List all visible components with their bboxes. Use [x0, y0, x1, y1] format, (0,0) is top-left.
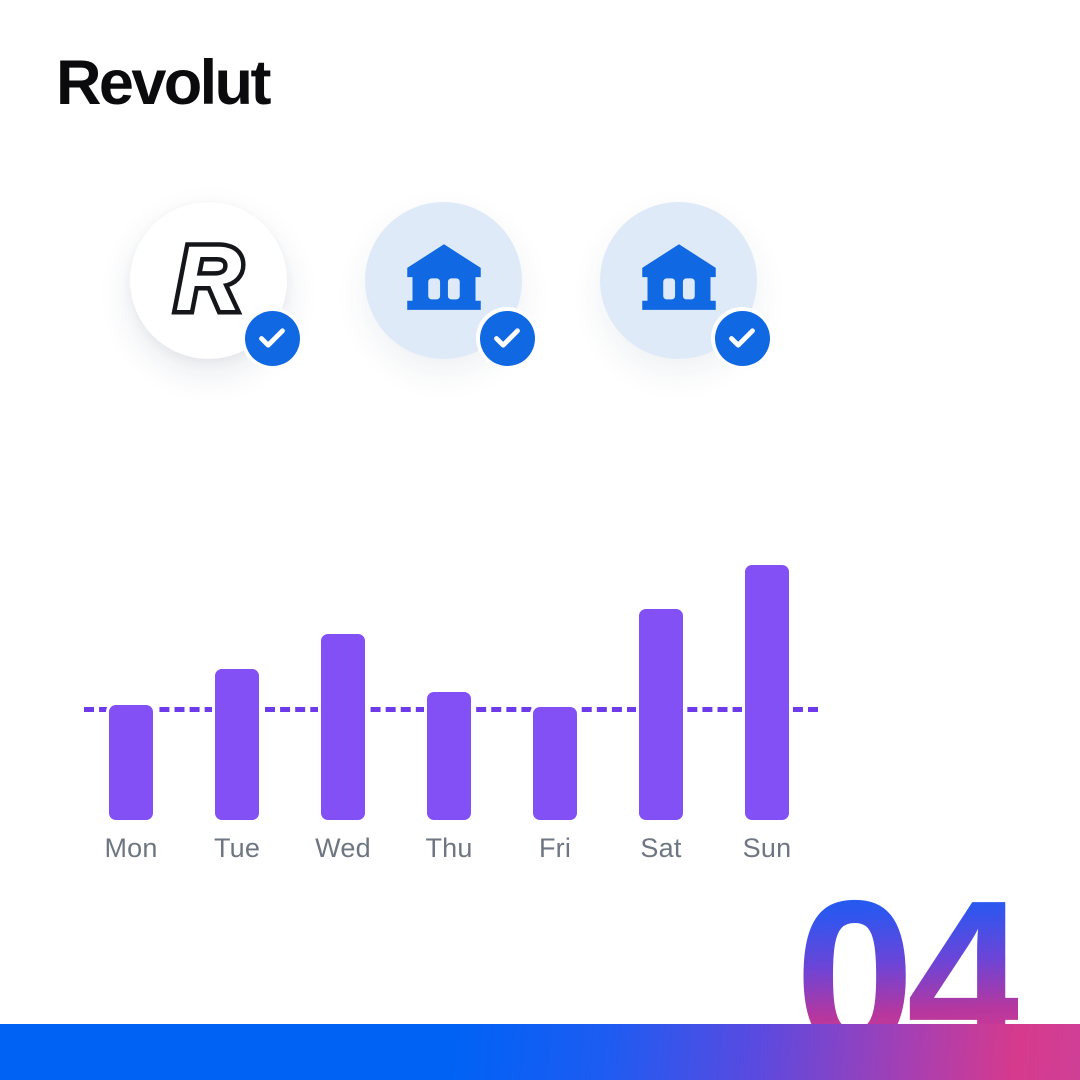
revolut-r-logo-icon: R	[175, 233, 241, 325]
x-label-sat: Sat	[611, 833, 711, 864]
bank-icon	[637, 239, 721, 323]
verified-badge-revolut	[241, 307, 303, 369]
revolut-wordmark: Revolut	[56, 52, 269, 115]
verified-badge-bank-2	[711, 307, 773, 369]
x-label-fri: Fri	[505, 833, 605, 864]
bar-column-sun[interactable]	[745, 565, 789, 820]
verified-badge-bank-1	[476, 307, 538, 369]
bar-mon[interactable]	[109, 705, 153, 820]
bar-sat[interactable]	[639, 609, 683, 820]
bar-column-fri[interactable]	[533, 707, 577, 820]
check-icon	[480, 311, 535, 366]
bar-column-thu[interactable]	[427, 692, 471, 820]
bar-sun[interactable]	[745, 565, 789, 820]
bar-column-sat[interactable]	[639, 609, 683, 820]
slide-canvas: Revolut R	[0, 0, 1080, 1080]
chart-x-axis-labels: MonTueWedThuFriSatSun	[84, 833, 844, 873]
bar-column-mon[interactable]	[109, 705, 153, 820]
bar-column-wed[interactable]	[321, 634, 365, 820]
bar-tue[interactable]	[215, 669, 259, 820]
chart-bars	[84, 545, 844, 820]
x-label-thu: Thu	[399, 833, 499, 864]
x-label-mon: Mon	[81, 833, 181, 864]
chart-plot-area	[84, 545, 844, 820]
footer-gradient-band	[0, 1024, 1080, 1080]
x-label-tue: Tue	[187, 833, 287, 864]
x-label-wed: Wed	[293, 833, 393, 864]
bar-column-tue[interactable]	[215, 669, 259, 820]
bar-wed[interactable]	[321, 634, 365, 820]
linked-account-bank-1[interactable]	[365, 202, 522, 359]
bar-fri[interactable]	[533, 707, 577, 820]
check-icon	[245, 311, 300, 366]
check-icon	[715, 311, 770, 366]
weekly-spend-chart: MonTueWedThuFriSatSun	[84, 545, 844, 885]
bank-icon	[402, 239, 486, 323]
linked-accounts-row: R	[130, 202, 757, 359]
linked-account-revolut[interactable]: R	[130, 202, 287, 359]
linked-account-bank-2[interactable]	[600, 202, 757, 359]
bar-thu[interactable]	[427, 692, 471, 820]
